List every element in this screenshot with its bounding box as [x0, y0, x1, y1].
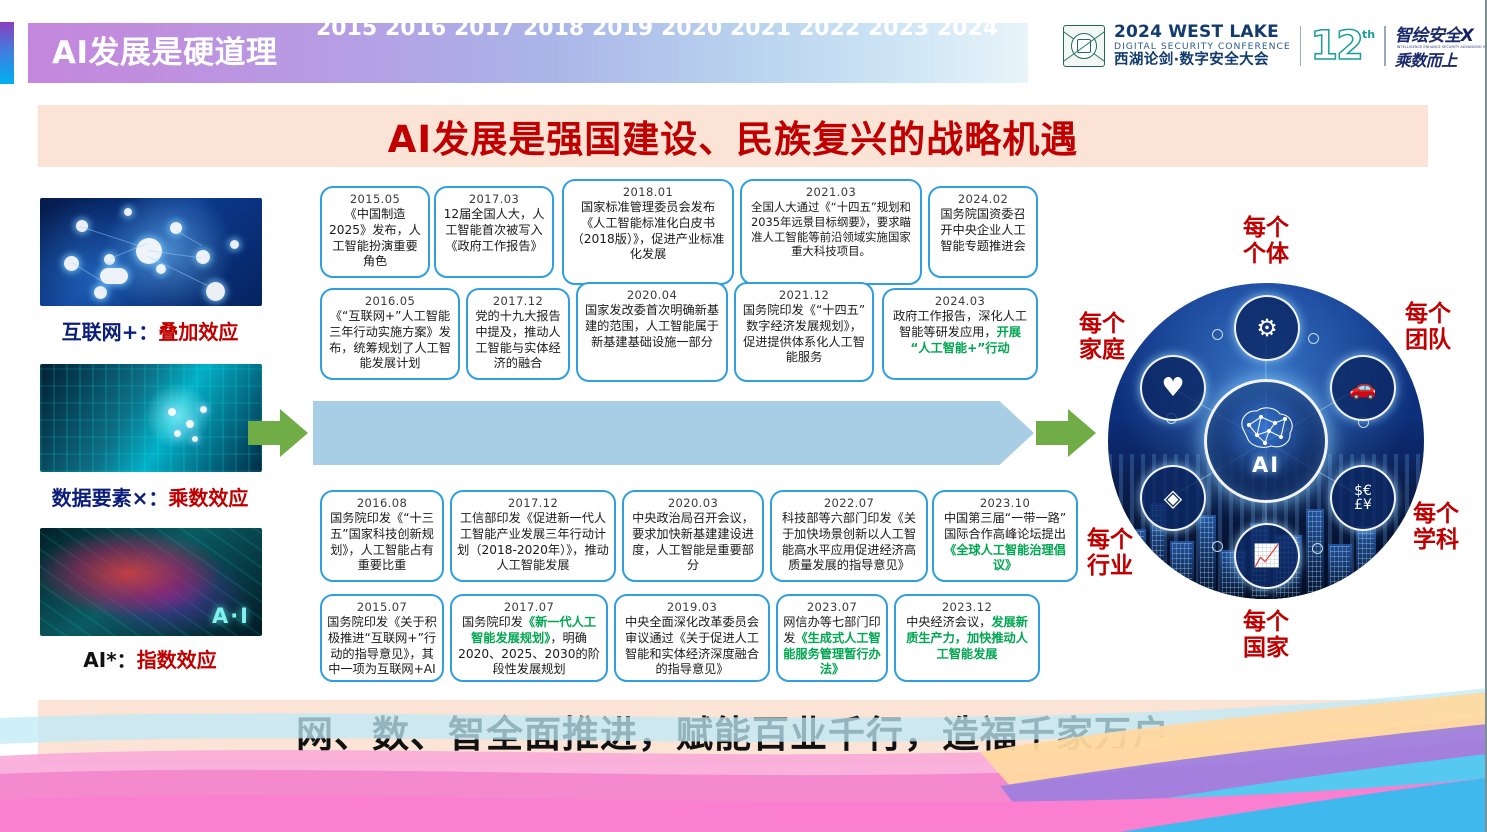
left-label-internet-value: 叠加效应	[158, 320, 238, 344]
shield-face-icon: ◈	[1140, 465, 1206, 531]
conference-logo-chinese: 西湖论剑·数字安全大会	[1114, 53, 1291, 68]
card-body: 中央全面深化改革委员会审议通过《关于促进人工智能和实体经济深度融合的指导意见》	[621, 615, 763, 677]
card-date: 2017.12	[473, 294, 563, 308]
timeline-year-2016: 2016	[385, 16, 446, 41]
robot-arm-icon: ⚙	[1234, 295, 1300, 361]
card-body: 国家发改委首次明确新基建的范围，人工智能属于新基建基础设施一部分	[583, 303, 721, 350]
timeline-year-2018: 2018	[523, 16, 584, 41]
card-date: 2017.07	[457, 600, 601, 614]
top-banner-text: AI发展是强国建设、民族复兴的战略机遇	[388, 109, 1078, 163]
data-circuit-thumbnail	[40, 364, 262, 472]
card-date: 2023.07	[783, 600, 881, 614]
west-lake-seal-icon	[1063, 25, 1105, 67]
conference-logo-text: 2024 WEST LAKE DIGITAL SECURITY CONFEREN…	[1114, 24, 1291, 68]
left-label-internet-key: 互联网+：	[62, 320, 159, 344]
timeline-card[interactable]: 2023.10 中国第三届“一带一路”国际合作高峰论坛提出《全球人工智能治理倡议…	[932, 490, 1078, 582]
card-body: 国务院印发《“十三五”国家科技创新规划》，人工智能占有重要比重	[327, 511, 437, 573]
timeline-card[interactable]: 2020.03 中央政治局召开会议，要求加快新基建建设进度，人工智能是重要部分	[622, 490, 764, 582]
timeline-card[interactable]: 2021.03 全国人大通过《“十四五”规划和2035年远景目标纲要》，要求瞄准…	[740, 179, 922, 285]
card-body: 党的十九大报告中提及，推动人工智能与实体经济的融合	[473, 309, 563, 371]
card-body: 12届全国人大，人工智能首次被写入《政府工作报告》	[441, 207, 547, 254]
car-icon: 🚗	[1330, 355, 1396, 421]
card-date: 2015.05	[327, 192, 423, 206]
conference-logo-subtitle: DIGITAL SECURITY CONFERENCE	[1114, 42, 1291, 51]
card-highlight: 《生成式人工智能服务管理暂行办法》	[783, 631, 881, 676]
card-body: 国务院印发《“十四五”数字经济发展规划》，促进提供体系化人工智能服务	[741, 303, 867, 365]
left-label-data-value: 乘数效应	[168, 486, 248, 510]
card-date: 2023.12	[901, 600, 1033, 614]
card-date: 2018.01	[569, 185, 727, 199]
every-country-label: 每个 国家	[1216, 610, 1316, 662]
every-individual-label: 每个 个体	[1216, 216, 1316, 268]
timeline-card[interactable]: 2024.03 政府工作报告，深化人工智能等研发应用，开展“人工智能+”行动	[882, 288, 1038, 380]
card-date: 2017.03	[441, 192, 547, 206]
card-date: 2024.03	[889, 294, 1031, 308]
internet-network-thumbnail	[40, 198, 262, 306]
every-discipline-label: 每个 学科	[1388, 502, 1484, 554]
card-body: 《中国制造2025》发布，人工智能扮演重要角色	[327, 207, 423, 269]
card-date: 2021.12	[741, 288, 867, 302]
header-accent-bar	[0, 22, 14, 84]
timeline-year-2021: 2021	[730, 16, 791, 41]
timeline-year-2019: 2019	[592, 16, 653, 41]
card-date: 2015.07	[327, 600, 437, 614]
timeline-card[interactable]: 2019.03 中央全面深化改革委员会审议通过《关于促进人工智能和实体经济深度融…	[614, 594, 770, 682]
timeline-card[interactable]: 2017.07 国务院印发《新一代人工智能发展规划》，明确2020、2025、2…	[450, 594, 608, 682]
slide-root: AI发展是硬道理 2024 WEST LAKE DIGITAL SECURITY…	[0, 0, 1487, 832]
card-date: 2022.07	[777, 496, 921, 510]
timeline-card[interactable]: 2023.12 中央经济会议，发展新质生产力，加快推动人工智能发展	[894, 594, 1040, 682]
card-body: 政府工作报告，深化人工智能等研发应用，开展“人工智能+”行动	[889, 309, 1031, 356]
neural-brain-icon	[1235, 405, 1297, 451]
timeline-card[interactable]: 2015.07 国务院印发《关于积极推进“互联网+”行动的指导意见》，其中一项为…	[320, 594, 444, 682]
edition-number: 12	[1310, 26, 1362, 66]
left-green-arrow-icon	[248, 407, 308, 459]
left-label-internet: 互联网+：叠加效应	[0, 316, 300, 345]
brain-ai-text: A·I	[212, 604, 250, 628]
timeline-year-2022: 2022	[799, 16, 860, 41]
timeline-year-2024: 2024	[937, 16, 998, 41]
card-date: 2024.02	[935, 192, 1031, 206]
card-body: 网信办等七部门印发《生成式人工智能服务管理暂行办法》	[783, 615, 881, 677]
chart-icon: 📈	[1234, 523, 1300, 589]
card-body: 国务院印发《新一代人工智能发展规划》，明确2020、2025、2030的阶段性发…	[457, 615, 601, 677]
timeline-card[interactable]: 2022.07 科技部等六部门印发《关于加快场景创新以人工智能高水平应用促进经济…	[770, 490, 928, 582]
card-date: 2019.03	[621, 600, 763, 614]
slogan-english: INTELLIGENCE ENHANCE SECURITY ADVANCING …	[1397, 45, 1487, 49]
currency-icon: $€£¥	[1330, 465, 1396, 531]
every-industry-label: 每个 行业	[1060, 528, 1160, 580]
card-date: 2020.03	[629, 496, 757, 510]
conference-edition: 12 th	[1310, 26, 1375, 66]
left-label-ai-value: 指数效应	[137, 648, 217, 672]
card-body: 科技部等六部门印发《关于加快场景创新以人工智能高水平应用促进经济高质量发展的指导…	[777, 511, 921, 573]
timeline-card[interactable]: 2015.05 《中国制造2025》发布，人工智能扮演重要角色	[320, 186, 430, 278]
ai-hub-label: AI	[1252, 453, 1280, 477]
slogan-line-1: 智绘安全X	[1395, 21, 1487, 46]
logo-divider-1	[1300, 26, 1302, 66]
card-body: 中国第三届“一带一路”国际合作高峰论坛提出《全球人工智能治理倡议》	[939, 511, 1071, 573]
card-date: 2021.03	[747, 185, 915, 199]
card-body: 国家标准管理委员会发布《人工智能标准化白皮书（2018版）》，促进产业标准化发展	[569, 200, 727, 262]
timeline-year-2015: 2015	[316, 16, 377, 41]
timeline-card[interactable]: 2021.12 国务院印发《“十四五”数字经济发展规划》，促进提供体系化人工智能…	[734, 282, 874, 382]
card-body: 全国人大通过《“十四五”规划和2035年远景目标纲要》，要求瞄准人工智能等前沿领…	[747, 200, 915, 258]
edition-suffix: th	[1362, 28, 1375, 41]
timeline-year-2017: 2017	[454, 16, 515, 41]
timeline-card[interactable]: 2017.12 党的十九大报告中提及，推动人工智能与实体经济的融合	[466, 288, 570, 380]
card-date: 2016.05	[327, 294, 453, 308]
every-family-label: 每个 家庭	[1052, 312, 1152, 364]
timeline-year-2023: 2023	[868, 16, 929, 41]
card-date: 2017.12	[457, 496, 609, 510]
timeline-card[interactable]: 2017.03 12届全国人大，人工智能首次被写入《政府工作报告》	[434, 186, 554, 278]
right-green-arrow-icon	[1036, 407, 1096, 459]
ai-hub: AI	[1204, 379, 1328, 503]
top-banner: AI发展是强国建设、民族复兴的战略机遇	[38, 105, 1428, 167]
timeline-card[interactable]: 2018.01 国家标准管理委员会发布《人工智能标准化白皮书（2018版）》，促…	[562, 179, 734, 285]
card-body: 中央经济会议，发展新质生产力，加快推动人工智能发展	[901, 615, 1033, 662]
card-body: 工信部印发《促进新一代人工智能产业发展三年行动计划（2018-2020年）》，推…	[457, 511, 609, 573]
timeline-card[interactable]: 2024.02 国务院国资委召开中央企业人工智能专题推进会	[928, 186, 1038, 278]
timeline-card[interactable]: 2023.07 网信办等七部门印发《生成式人工智能服务管理暂行办法》	[776, 594, 888, 682]
timeline-card[interactable]: 2016.08 国务院印发《“十三五”国家科技创新规划》，人工智能占有重要比重	[320, 490, 444, 582]
card-date: 2020.04	[583, 288, 721, 302]
timeline-year-2020: 2020	[661, 16, 722, 41]
card-body: 《“互联网+”人工智能三年行动实施方案》发布，统筹规划了人工智能发展计划	[327, 309, 453, 371]
left-label-ai: AI*：指数效应	[0, 644, 300, 673]
heartbeat-icon: ♥	[1140, 355, 1206, 421]
timeline-band	[313, 401, 1034, 465]
ai-brain-chip-thumbnail: A·I	[40, 528, 262, 636]
card-body: 中央政治局召开会议，要求加快新基建建设进度，人工智能是重要部分	[629, 511, 757, 573]
page-title: AI发展是硬道理	[52, 30, 278, 76]
card-body: 国务院国资委召开中央企业人工智能专题推进会	[935, 207, 1031, 254]
conference-slogan: 智绘安全X 乘数而上 INTELLIGENCE ENHANCE SECURITY…	[1395, 23, 1487, 69]
left-label-data: 数据要素×：乘数效应	[0, 482, 300, 511]
every-team-label: 每个 团队	[1378, 302, 1478, 354]
card-body: 国务院印发《关于积极推进“互联网+”行动的指导意见》，其中一项为互联网+AI	[327, 615, 437, 677]
left-label-ai-key: AI*：	[83, 648, 136, 672]
decorative-swoosh	[0, 682, 1487, 832]
slogan-line-2: 乘数而上	[1395, 47, 1487, 71]
card-date: 2016.08	[327, 496, 437, 510]
card-highlight: 《全球人工智能治理倡议》	[944, 543, 1066, 573]
left-label-data-key: 数据要素×：	[52, 486, 169, 510]
timeline-card[interactable]: 2016.05 《“互联网+”人工智能三年行动实施方案》发布，统筹规划了人工智能…	[320, 288, 460, 380]
conference-logo-year: 2024 WEST LAKE	[1114, 24, 1291, 41]
timeline-card[interactable]: 2017.12 工信部印发《促进新一代人工智能产业发展三年行动计划（2018-2…	[450, 490, 616, 582]
card-date: 2023.10	[939, 496, 1071, 510]
conference-logo: 2024 WEST LAKE DIGITAL SECURITY CONFEREN…	[1063, 22, 1487, 70]
logo-divider-2	[1384, 26, 1386, 66]
timeline-card[interactable]: 2020.04 国家发改委首次明确新基建的范围，人工智能属于新基建基础设施一部分	[576, 282, 728, 382]
slogan-x-mark: X	[1461, 26, 1474, 46]
